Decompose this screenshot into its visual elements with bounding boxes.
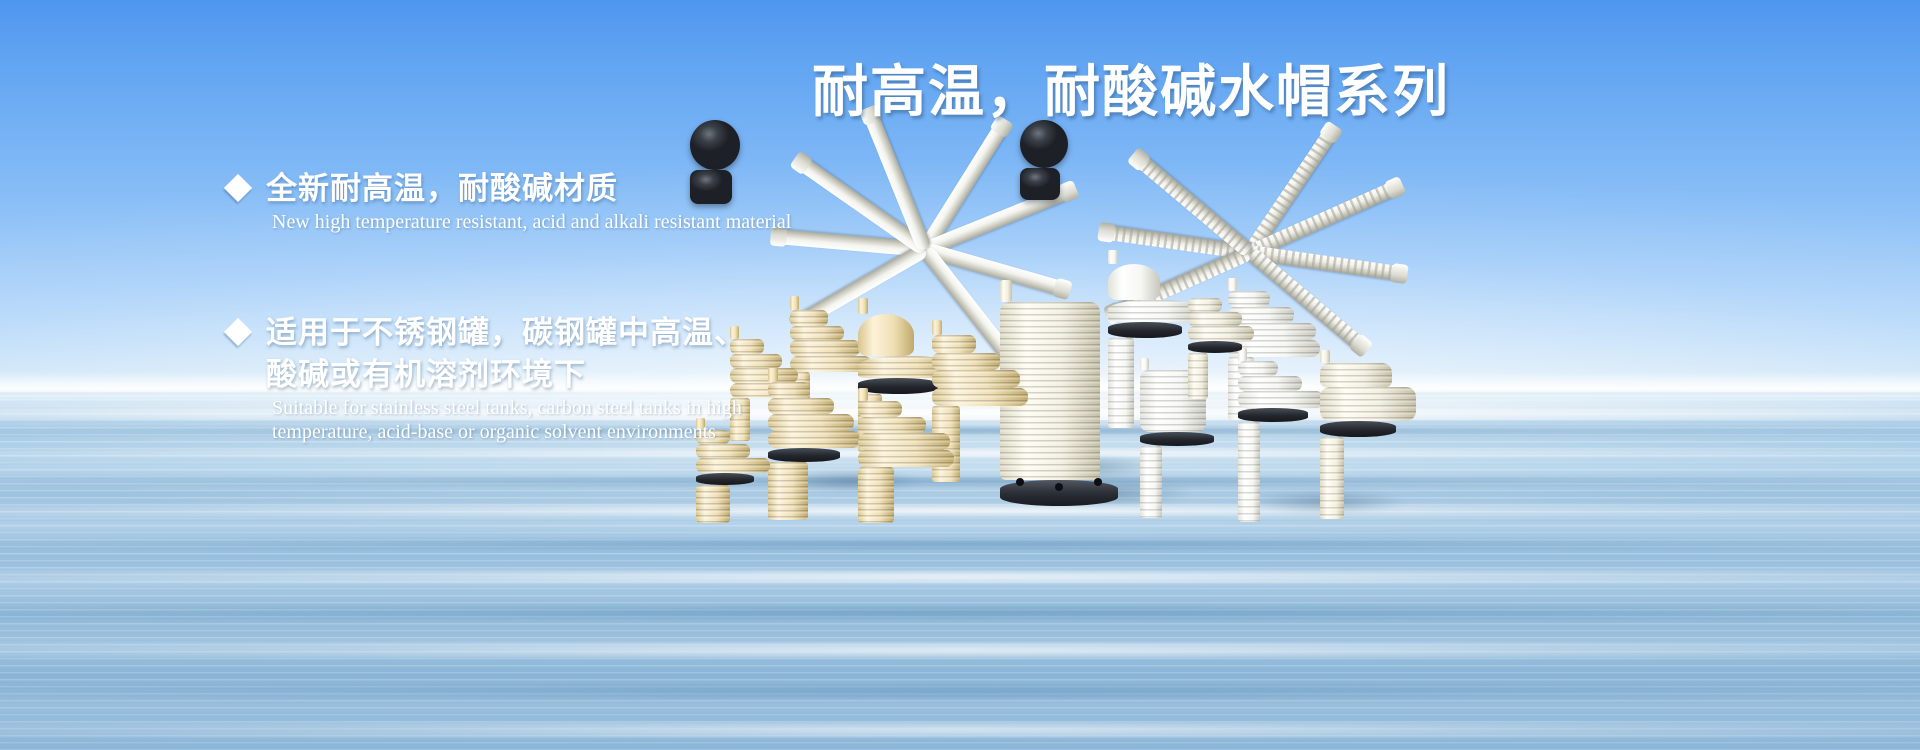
- cap-nipple: [1140, 358, 1149, 370]
- cap-tier: [858, 433, 950, 450]
- cap-tier: [932, 335, 976, 353]
- star-hub: [690, 120, 740, 170]
- feature-bullet-1: 全新耐高温，耐酸碱材质 New high temperature resista…: [228, 168, 791, 234]
- cap-tier: [858, 417, 926, 433]
- ribbed-cap-cream: [1320, 350, 1416, 506]
- flange-bolt-hole: [1094, 478, 1102, 486]
- cap-stem-ribbed: [696, 485, 730, 523]
- cap-stem: [1188, 353, 1208, 399]
- cap-body: [1320, 387, 1416, 421]
- cap-nipple: [932, 320, 942, 335]
- cap-seal-ring: [1108, 322, 1182, 338]
- cap-nipple: [790, 296, 799, 310]
- bullet-row: 全新耐高温，耐酸碱材质: [228, 168, 791, 210]
- promotional-banner: 耐高温，耐酸碱水帽系列 全新耐高温，耐酸碱材质 New high tempera…: [0, 0, 1920, 750]
- cap-stem: [1320, 437, 1344, 519]
- star-hub: [1020, 120, 1068, 168]
- cap-nipple: [1108, 250, 1118, 264]
- cap-tier: [1320, 363, 1392, 387]
- feature-bullet-2: 适用于不锈钢罐，碳钢罐中高温、 酸碱或有机溶剂环境下 Suitable for …: [228, 312, 746, 444]
- bullet-row: 适用于不锈钢罐，碳钢罐中高温、: [228, 312, 746, 354]
- cap-tier: [768, 382, 810, 398]
- product-cluster: [690, 120, 1730, 540]
- cap-tier: [790, 310, 828, 326]
- cap-tier: [768, 398, 834, 414]
- cap-tier: [858, 401, 902, 417]
- cap-seal-ring: [1238, 408, 1308, 422]
- cap-tier: [768, 431, 860, 448]
- cap-tier: [1188, 312, 1242, 326]
- cap-nipple: [858, 298, 868, 314]
- cap-tier: [696, 444, 750, 458]
- cap-dome: [858, 314, 914, 356]
- cap-stem-ribbed: [768, 462, 808, 520]
- page-title: 耐高温，耐酸碱水帽系列: [812, 62, 1450, 122]
- stepped-cap-tall: [858, 388, 954, 512]
- cap-seal-ring: [1140, 432, 1214, 446]
- cap-tier: [696, 458, 770, 473]
- star-hub-base: [1020, 168, 1060, 200]
- diamond-bullet-icon: [224, 174, 252, 202]
- flange-bolt-hole: [1055, 483, 1063, 491]
- cap-nipple: [1228, 278, 1237, 291]
- cap-tier: [932, 370, 1020, 388]
- cap-tier: [1188, 298, 1222, 312]
- cap-nipple: [1320, 350, 1330, 363]
- bullet-1-cn-line-1: 全新耐高温，耐酸碱材质: [266, 168, 618, 210]
- cap-stem-ribbed: [858, 467, 894, 523]
- cap-tier: [1188, 326, 1254, 341]
- cap-stem: [1140, 446, 1162, 518]
- cap-dome: [1108, 264, 1160, 300]
- cap-tier: [932, 353, 1000, 370]
- cap-seal-ring: [1320, 421, 1396, 437]
- bullet-2-en-line-1: Suitable for stainless steel tanks, carb…: [272, 396, 746, 420]
- bullet-1-en-line-1: New high temperature resistant, acid and…: [272, 210, 791, 234]
- cap-nipple: [768, 368, 778, 382]
- cap-stem: [1238, 422, 1260, 522]
- stepped-cap-cream: [1188, 298, 1254, 390]
- flange-bolt-hole: [1016, 478, 1024, 486]
- bullet-2-cn-line-2: 酸碱或有机溶剂环境下: [266, 354, 746, 396]
- cap-tier: [858, 450, 954, 467]
- cap-seal-ring: [1188, 341, 1242, 353]
- stepped-cap-tall: [768, 368, 860, 504]
- filter-top-nipple: [1000, 280, 1012, 302]
- cap-tier: [768, 414, 854, 431]
- cap-tier: [1238, 391, 1324, 408]
- cap-nipple: [858, 388, 868, 401]
- bullet-2-cn-line-1: 适用于不锈钢罐，碳钢罐中高温、: [266, 312, 746, 354]
- cap-seal-ring: [768, 448, 840, 462]
- cap-seal-ring: [696, 473, 754, 485]
- cap-stem: [1108, 338, 1134, 428]
- diamond-bullet-icon: [224, 318, 252, 346]
- bullet-2-en-line-2: temperature, acid-base or organic solven…: [272, 420, 746, 444]
